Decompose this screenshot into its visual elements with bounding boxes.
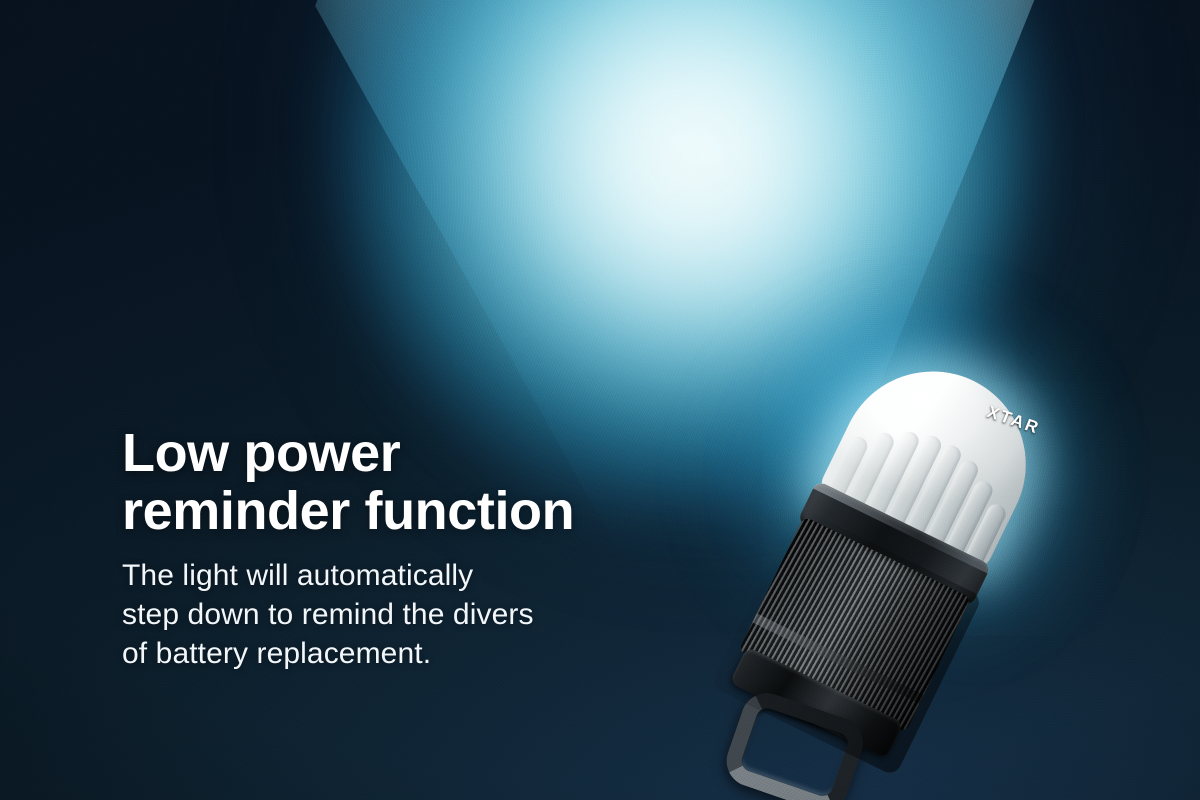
light-beam <box>0 0 1200 800</box>
headline-line-1: Low power <box>122 424 742 482</box>
subcopy-line-1: The light will automatically <box>122 556 742 595</box>
subcopy-line-3: of battery replacement. <box>122 634 742 673</box>
headline-line-2: reminder function <box>122 482 742 540</box>
copy-block: Low power reminder function The light wi… <box>122 424 742 673</box>
subcopy: The light will automatically step down t… <box>122 556 742 673</box>
product-banner: XTAR Low power reminder function The lig… <box>0 0 1200 800</box>
subcopy-line-2: step down to remind the divers <box>122 595 742 634</box>
headline: Low power reminder function <box>122 424 742 540</box>
